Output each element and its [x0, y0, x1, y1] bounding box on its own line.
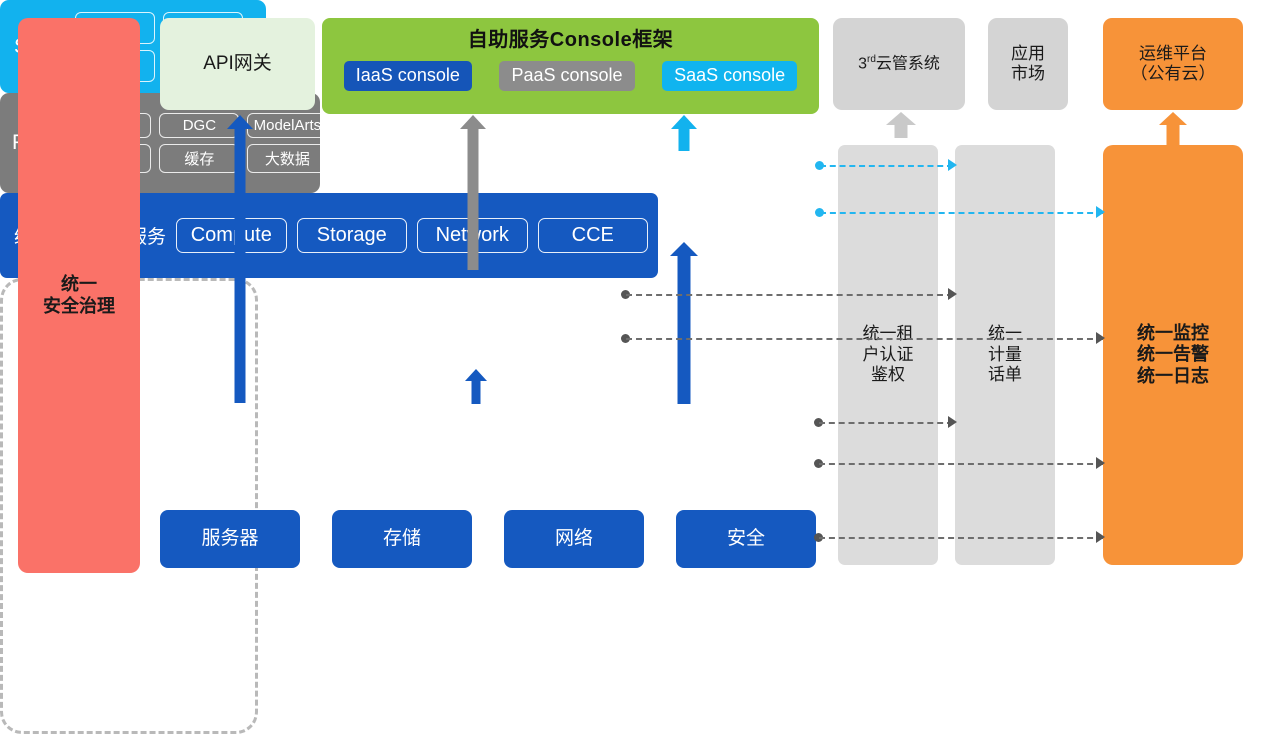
security-governance-column[interactable]: 统一 安全治理	[18, 18, 140, 573]
console-chip-row: IaaS console PaaS console SaaS console	[322, 61, 819, 91]
architecture-diagram: 统一 安全治理 API网关 自助服务Console框架 IaaS console…	[0, 0, 1265, 605]
arrow-infra-to-api-gateway	[226, 115, 254, 403]
ops-platform-box[interactable]: 运维平台 （公有云）	[1103, 18, 1243, 110]
third-party-cloud-mgmt-box[interactable]: 3rd云管系统	[833, 18, 965, 110]
third-party-superscript: rd	[867, 54, 876, 65]
ops-monitoring-label: 统一监控 统一告警 统一日志	[1137, 323, 1209, 388]
paas-service-bigdata[interactable]: 大数据	[247, 144, 327, 173]
arrow-infra-to-saas	[670, 242, 698, 404]
paas-service-modelarts[interactable]: ModelArts	[247, 113, 327, 138]
hardware-label: 安全	[727, 528, 765, 551]
hardware-box-storage[interactable]: 存储	[332, 510, 472, 568]
shared-column-label: 统一 计量 话单	[988, 324, 1022, 385]
hardware-box-security[interactable]: 安全	[676, 510, 816, 568]
paas-console-chip[interactable]: PaaS console	[499, 61, 634, 91]
console-framework-title: 自助服务Console框架	[322, 18, 819, 52]
api-gateway-label: API网关	[203, 53, 272, 76]
iaas-console-chip[interactable]: IaaS console	[344, 61, 472, 91]
arrow-infra-to-paas	[464, 369, 488, 404]
arrow-shared-to-third-party	[885, 112, 917, 138]
hardware-label: 网络	[555, 528, 593, 551]
ops-platform-label: 运维平台 （公有云）	[1131, 44, 1216, 85]
infra-chip-storage[interactable]: Storage	[297, 218, 408, 253]
hardware-box-server[interactable]: 服务器	[160, 510, 300, 568]
app-market-label: 应用 市场	[1011, 44, 1045, 85]
arrow-saas-to-console	[670, 115, 698, 151]
hardware-label: 存储	[383, 528, 421, 551]
arrow-paas-to-console	[459, 115, 487, 270]
api-gateway-box[interactable]: API网关	[160, 18, 315, 110]
saas-console-chip[interactable]: SaaS console	[662, 61, 797, 91]
shared-column-label: 统一租 户认证 鉴权	[863, 324, 914, 385]
hardware-label: 服务器	[201, 528, 258, 551]
hardware-box-network[interactable]: 网络	[504, 510, 644, 568]
app-market-box[interactable]: 应用 市场	[988, 18, 1068, 110]
arrow-ops-column-to-platform	[1158, 112, 1188, 147]
security-governance-label: 统一 安全治理	[43, 274, 115, 317]
console-framework-panel[interactable]: 自助服务Console框架 IaaS console PaaS console …	[322, 18, 819, 114]
third-party-label: 3rd云管系统	[858, 54, 940, 74]
shared-column-metering-billing[interactable]: 统一 计量 话单	[955, 145, 1055, 565]
infra-chip-cce[interactable]: CCE	[538, 218, 649, 253]
shared-column-tenant-auth[interactable]: 统一租 户认证 鉴权	[838, 145, 938, 565]
ops-monitoring-column[interactable]: 统一监控 统一告警 统一日志	[1103, 145, 1243, 565]
